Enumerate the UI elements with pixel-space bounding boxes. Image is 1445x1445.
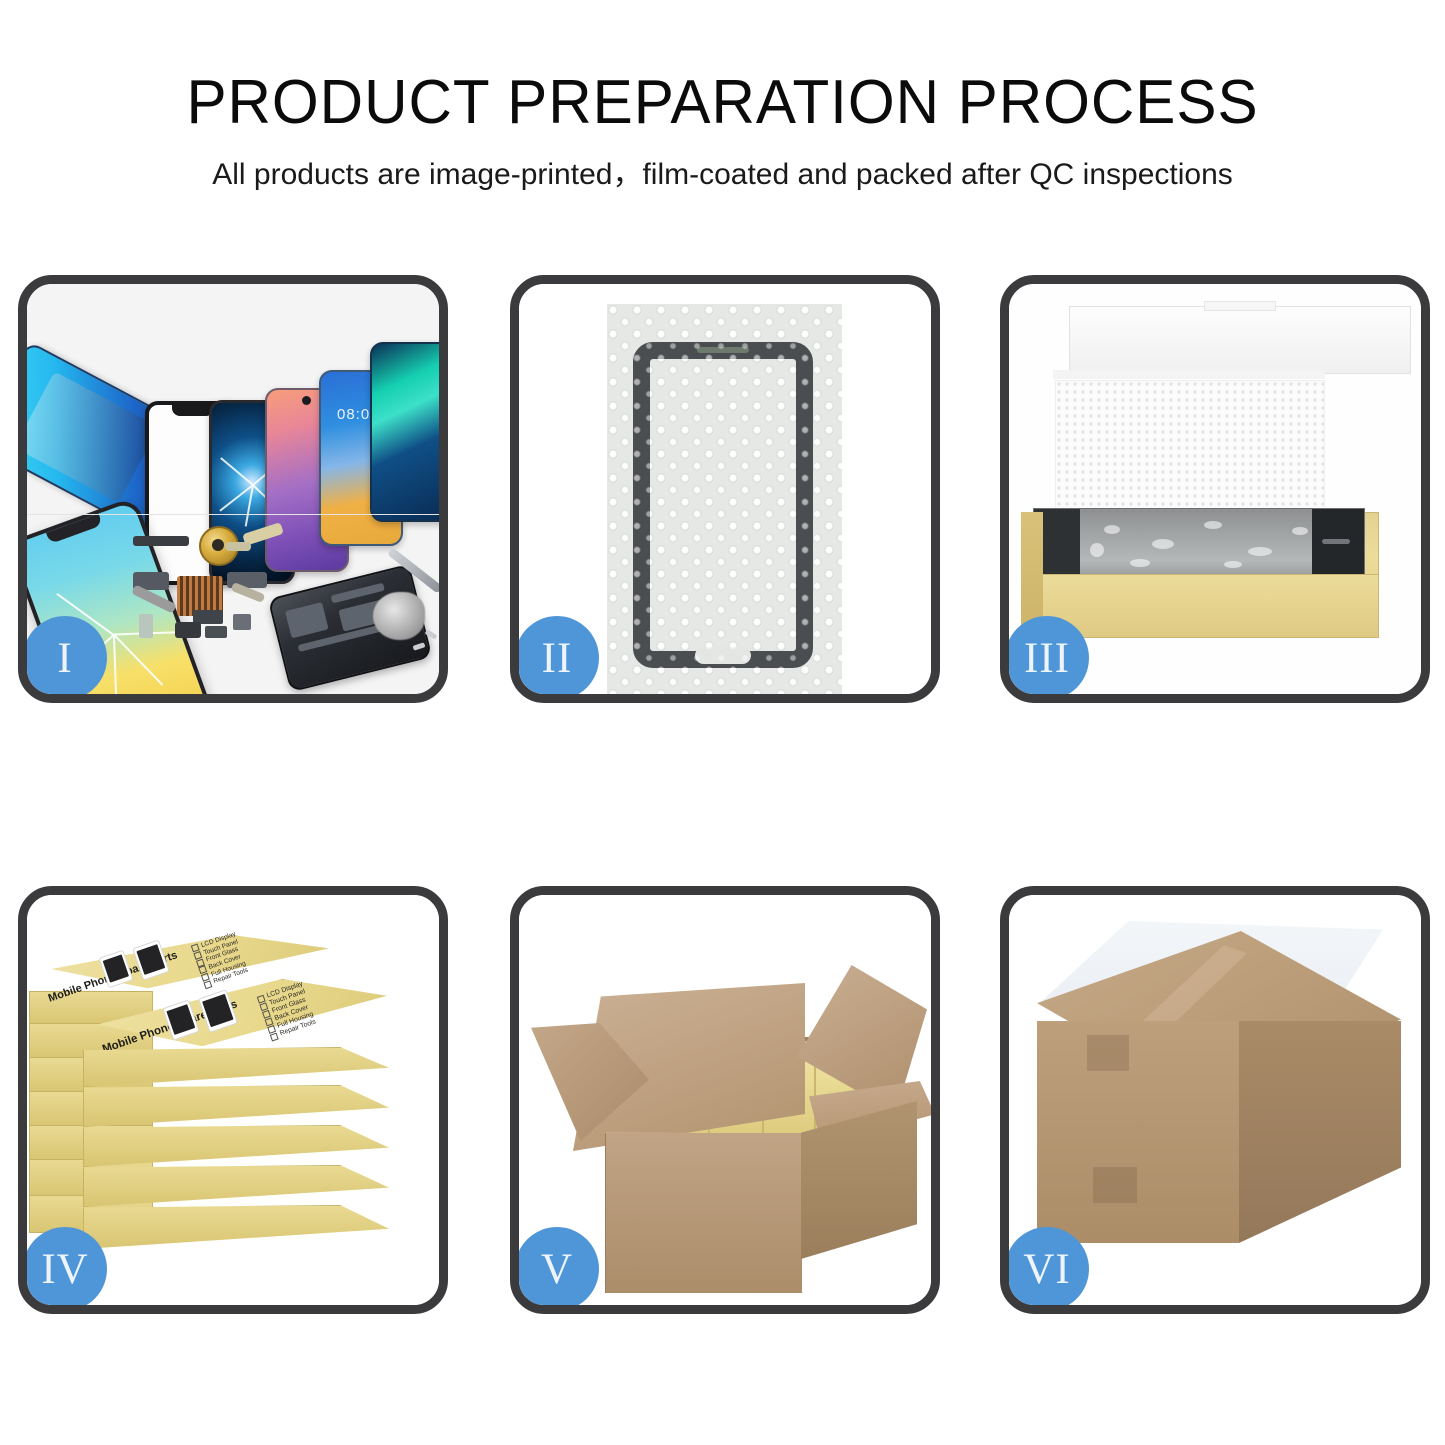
step-badge-3: III	[1005, 616, 1089, 700]
speaker-part-icon	[133, 536, 189, 546]
box-lid-inner-edge	[1053, 370, 1325, 379]
carton-tab-upper	[1087, 1035, 1129, 1071]
brush-icon	[373, 592, 425, 640]
wrapped-screen-in-box-icon	[1033, 508, 1365, 584]
carton-front-face	[605, 1133, 802, 1293]
process-step-1: 08:08	[18, 275, 448, 703]
checkbox-icon	[270, 1032, 279, 1041]
sealed-carton-front	[1037, 1021, 1239, 1243]
connector-icon	[205, 626, 227, 638]
process-steps-grid: 08:08	[0, 0, 1445, 1445]
bubble-wrap-sheet	[607, 304, 842, 694]
process-step-2: II	[510, 275, 940, 703]
step-badge-1: I	[23, 616, 107, 700]
sealed-carton-side	[1239, 1021, 1401, 1243]
process-step-3: III	[1000, 275, 1430, 703]
box-lid-icon	[1069, 306, 1411, 374]
flex-cable-small-icon	[225, 542, 251, 551]
step-badge-4: IV	[23, 1227, 107, 1311]
screen-frame-icon	[633, 342, 813, 668]
process-step-5: V	[510, 886, 940, 1314]
carton-tab-lower	[1093, 1167, 1137, 1203]
button-part-icon	[233, 614, 251, 630]
phone-display-teal-icon	[370, 342, 439, 522]
checkbox-icon	[203, 980, 212, 989]
step-badge-2: II	[515, 616, 599, 700]
foam-insert-icon	[1055, 380, 1325, 510]
sim-tray-icon	[139, 614, 153, 638]
step-badge-5: V	[515, 1227, 599, 1311]
process-step-4: Mobile Phone Spare Parts LCD DisplayTouc…	[18, 886, 448, 1314]
speaker-mesh-icon	[175, 622, 201, 638]
process-step-6: VI	[1000, 886, 1430, 1314]
step-badge-6: VI	[1005, 1227, 1089, 1311]
